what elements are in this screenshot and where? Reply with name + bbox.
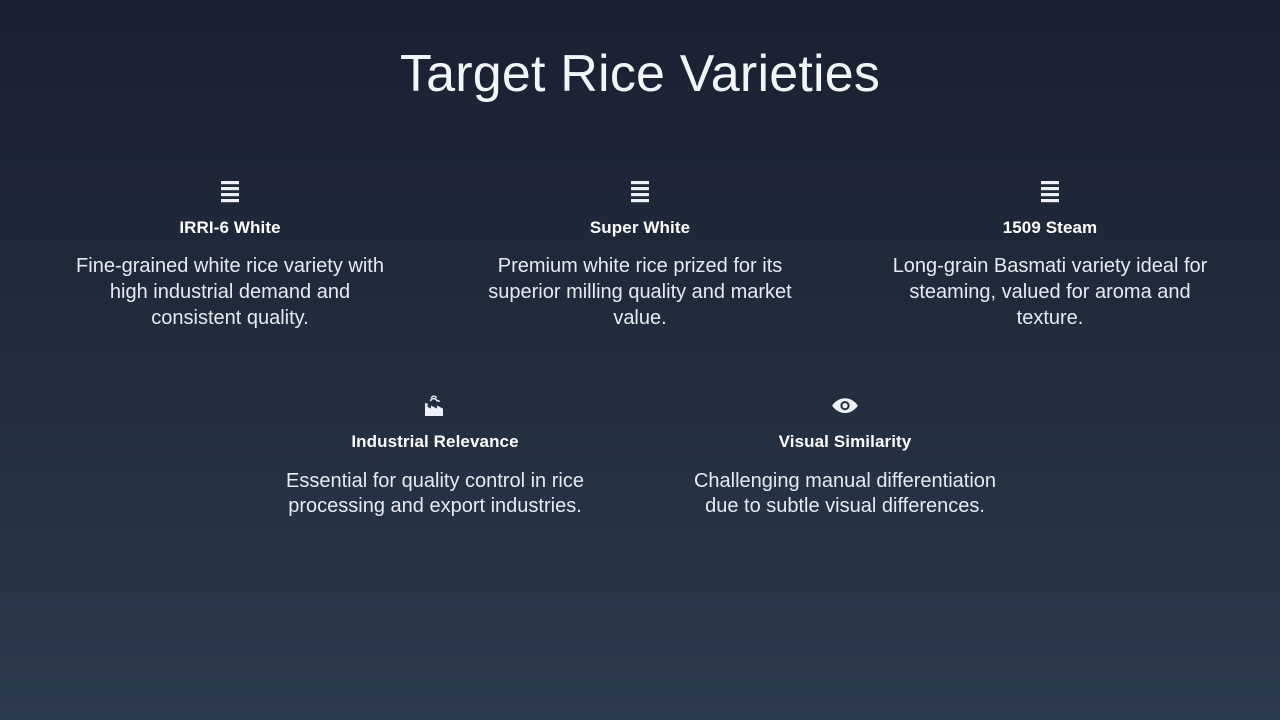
card-grid: IRRI-6 White Fine-grained white rice var… — [24, 175, 1256, 520]
card-super-white[interactable]: Super White Premium white rice prized fo… — [435, 175, 845, 331]
card-body: Challenging manual differentiation due t… — [685, 469, 1005, 520]
card-title: Industrial Relevance — [351, 432, 518, 452]
list-lines-icon — [1039, 175, 1061, 209]
card-title: Super White — [590, 218, 690, 238]
card-body: Long-grain Basmati variety ideal for ste… — [890, 254, 1210, 331]
list-lines-icon — [629, 175, 651, 209]
list-lines-icon — [219, 175, 241, 209]
slide-root: Target Rice Varieties IRRI-6 White Fine-… — [0, 0, 1280, 720]
card-body: Fine-grained white rice variety with hig… — [70, 254, 390, 331]
title-container: Target Rice Varieties — [0, 0, 1280, 150]
card-1509-steam[interactable]: 1509 Steam Long-grain Basmati variety id… — [845, 175, 1255, 331]
factory-icon — [421, 389, 449, 423]
card-title: IRRI-6 White — [179, 218, 280, 238]
card-title: Visual Similarity — [779, 432, 912, 452]
card-body: Essential for quality control in rice pr… — [275, 469, 595, 520]
card-body: Premium white rice prized for its superi… — [480, 254, 800, 331]
card-irri-6-white[interactable]: IRRI-6 White Fine-grained white rice var… — [25, 175, 435, 331]
card-industrial-relevance[interactable]: Industrial Relevance Essential for quali… — [230, 389, 640, 520]
card-title: 1509 Steam — [1003, 218, 1098, 238]
page-title: Target Rice Varieties — [400, 46, 880, 103]
card-visual-similarity[interactable]: Visual Similarity Challenging manual dif… — [640, 389, 1050, 520]
eye-icon — [831, 389, 859, 423]
